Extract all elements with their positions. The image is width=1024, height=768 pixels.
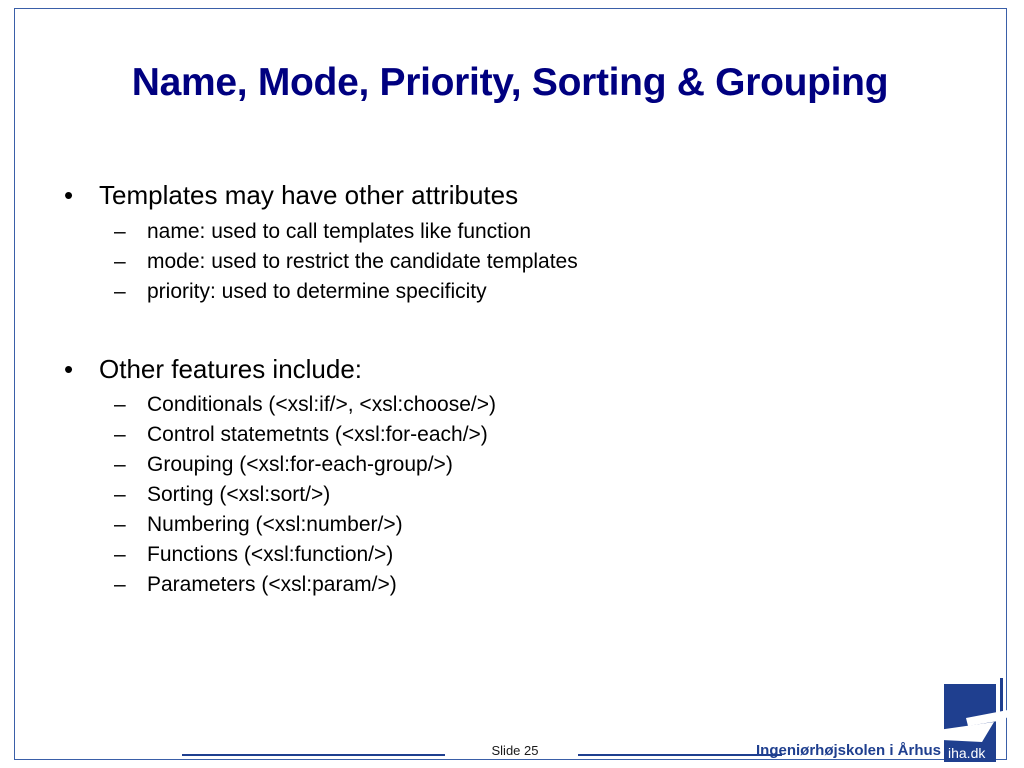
bullet-text: Functions (<xsl:function/>) (147, 543, 393, 566)
bullet-item-level1: • Other features include: (55, 354, 975, 386)
bullet-item-level2: – Control statemetnts (<xsl:for-each/>) (55, 424, 975, 445)
bullet-marker-dash: – (114, 251, 126, 272)
school-name: Ingeniørhøjskolen i Århus (756, 742, 941, 759)
bullet-marker-dash: – (114, 544, 126, 565)
bullet-marker-dash: – (114, 514, 126, 535)
bullet-item-level2: – Functions (<xsl:function/>) (55, 544, 975, 565)
slide-footer: Slide 25 Ingeniørhøjskolen i Århus (0, 735, 1024, 768)
bullet-marker-dash: – (114, 221, 126, 242)
bullet-item-level2: – mode: used to restrict the candidate t… (55, 251, 975, 272)
bullet-item-level2: – Parameters (<xsl:param/>) (55, 574, 975, 595)
bullet-text: Other features include: (99, 354, 362, 384)
slide-number: Slide 25 (455, 743, 575, 758)
bullet-marker-dash: – (114, 281, 126, 302)
footer-rule-left (182, 754, 445, 756)
bullet-text: Numbering (<xsl:number/>) (147, 513, 403, 536)
bullet-text: Conditionals (<xsl:if/>, <xsl:choose/>) (147, 393, 496, 416)
bullet-text: Control statemetnts (<xsl:for-each/>) (147, 423, 488, 446)
bullet-item-level1: • Templates may have other attributes (55, 180, 975, 212)
slide-body: • Templates may have other attributes – … (55, 180, 975, 595)
bullet-text: Grouping (<xsl:for-each-group/>) (147, 453, 453, 476)
bullet-text: Sorting (<xsl:sort/>) (147, 483, 330, 506)
bullet-item-level2: – Grouping (<xsl:for-each-group/>) (55, 454, 975, 475)
bullet-text: priority: used to determine specificity (147, 280, 487, 303)
slide-canvas: Name, Mode, Priority, Sorting & Grouping… (0, 0, 1024, 768)
bullet-text: Parameters (<xsl:param/>) (147, 573, 397, 596)
bullet-item-level2: – Numbering (<xsl:number/>) (55, 514, 975, 535)
bullet-item-level2: – Sorting (<xsl:sort/>) (55, 484, 975, 505)
bullet-text: name: used to call templates like functi… (147, 220, 531, 243)
bullet-item-level2: – Conditionals (<xsl:if/>, <xsl:choose/>… (55, 394, 975, 415)
footer-rule-right (578, 754, 782, 756)
bullet-text: Templates may have other attributes (99, 180, 518, 210)
bullet-group: • Other features include: – Conditionals… (55, 354, 975, 596)
bullet-marker-dash: – (114, 424, 126, 445)
bullet-marker-dash: – (114, 454, 126, 475)
bullet-marker-dot: • (64, 354, 73, 386)
logo-wordmark: iha.dk (948, 745, 986, 761)
bullet-group: • Templates may have other attributes – … (55, 180, 975, 302)
slide-title: Name, Mode, Priority, Sorting & Grouping (30, 62, 990, 105)
bullet-text: mode: used to restrict the candidate tem… (147, 250, 578, 273)
bullet-marker-dash: – (114, 574, 126, 595)
bullet-marker-dash: – (114, 394, 126, 415)
bullet-item-level2: – priority: used to determine specificit… (55, 281, 975, 302)
iha-logo: iha.dk (938, 678, 1024, 768)
bullet-group-spacer (55, 302, 975, 354)
bullet-item-level2: – name: used to call templates like func… (55, 221, 975, 242)
bullet-marker-dash: – (114, 484, 126, 505)
bullet-marker-dot: • (64, 180, 73, 212)
